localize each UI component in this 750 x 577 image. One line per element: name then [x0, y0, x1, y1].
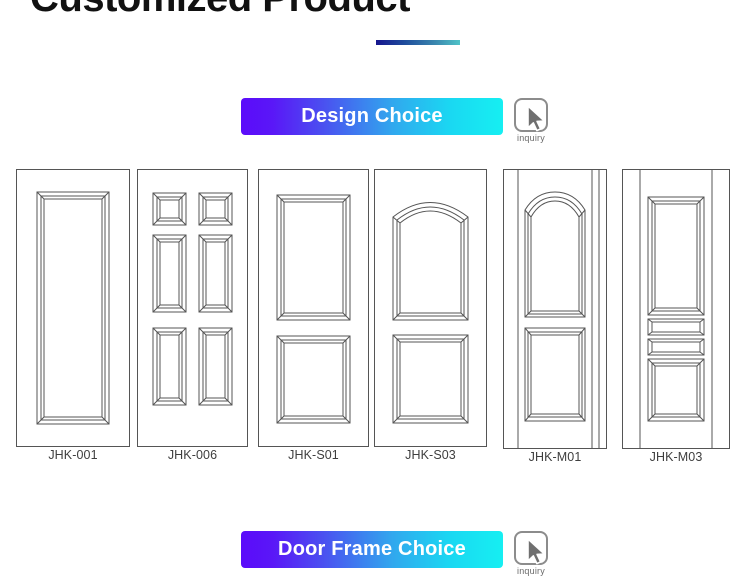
design-choice-section: Design Choice inquiry	[241, 98, 550, 143]
door-drawing	[258, 169, 369, 447]
design-choice-button[interactable]: Design Choice	[241, 98, 503, 135]
door-design-grid: JHK-001	[0, 0, 750, 577]
door-label-jhk-m01: JHK-M01	[503, 450, 607, 464]
door-drawing	[16, 169, 130, 447]
cursor-pointer-icon[interactable]	[514, 98, 548, 132]
door-label-jhk-s01: JHK-S01	[258, 448, 369, 462]
door-option-jhk-s01[interactable]: JHK-S01	[258, 169, 369, 447]
door-drawing	[622, 169, 730, 449]
design-inquiry-block[interactable]: inquiry	[512, 98, 550, 143]
door-label-jhk-m03: JHK-M03	[622, 450, 730, 464]
door-drawing	[503, 169, 607, 449]
door-option-jhk-006[interactable]: JHK-006	[137, 169, 248, 447]
design-inquiry-label: inquiry	[517, 133, 545, 143]
frame-inquiry-label: inquiry	[517, 566, 545, 576]
door-frame-choice-button[interactable]: Door Frame Choice	[241, 531, 503, 568]
door-label-jhk-006: JHK-006	[137, 448, 248, 462]
door-drawing	[374, 169, 487, 447]
door-option-jhk-m01[interactable]: JHK-M01	[503, 169, 607, 449]
door-label-jhk-s03: JHK-S03	[374, 448, 487, 462]
door-option-jhk-s03[interactable]: JHK-S03	[374, 169, 487, 447]
door-label-jhk-001: JHK-001	[16, 448, 130, 462]
door-option-jhk-001[interactable]: JHK-001	[16, 169, 130, 447]
page-title: Customized Product	[30, 0, 720, 24]
cursor-pointer-icon[interactable]	[514, 531, 548, 565]
title-accent-rule	[376, 40, 460, 45]
door-drawing	[137, 169, 248, 447]
frame-inquiry-block[interactable]: inquiry	[512, 531, 550, 576]
door-option-jhk-m03[interactable]: JHK-M03	[622, 169, 730, 449]
door-frame-choice-section: Door Frame Choice inquiry	[241, 531, 550, 576]
